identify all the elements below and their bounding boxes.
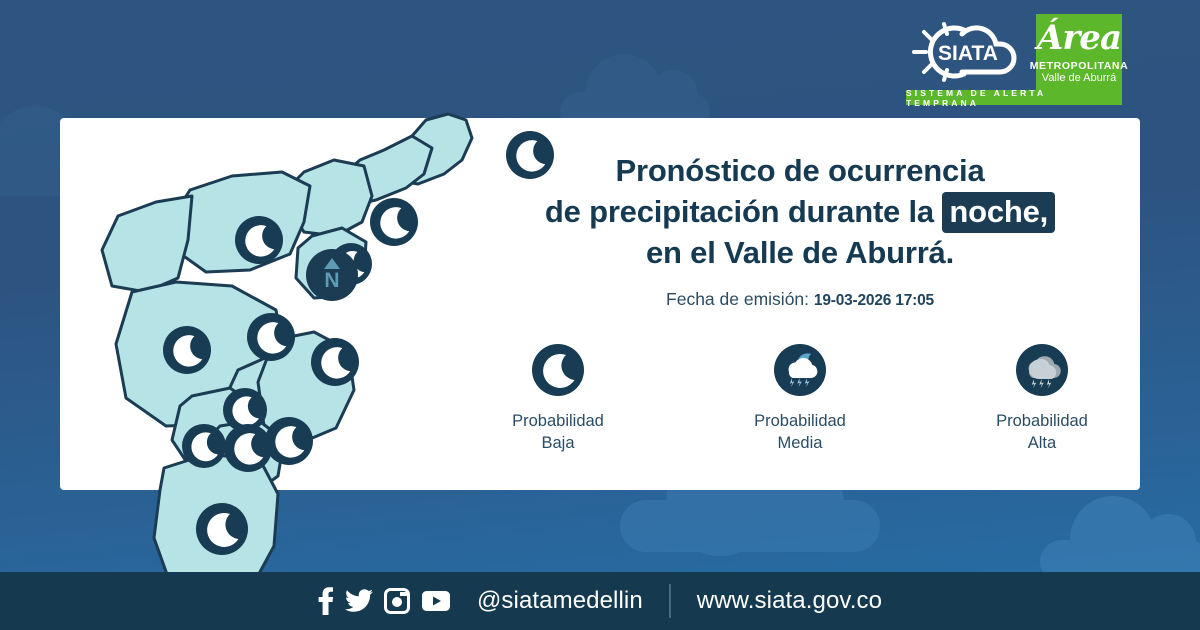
area-metropolitana-logo: Área METROPOLITANA Valle de Aburrá (1036, 14, 1122, 94)
legend-item-baja: Probabilidad Baja (478, 344, 638, 454)
map-marker-girardota (370, 198, 418, 246)
instagram-icon[interactable] (384, 588, 410, 614)
compass-rose: N (306, 249, 358, 301)
map-marker-caldas (196, 503, 248, 555)
forecast-text-block: Pronóstico de ocurrencia de precipitació… (470, 150, 1130, 454)
headline-line-2: de precipitación durante la noche, (470, 191, 1130, 232)
map-marker-san-pedro (235, 216, 283, 264)
social-handle[interactable]: @siatamedellin (477, 587, 643, 615)
facebook-icon[interactable] (318, 587, 334, 615)
valle-de-aburra-map: N (60, 40, 480, 580)
legend-media-line1: Probabilidad (754, 410, 846, 432)
legend-alta-line2: Alta (996, 432, 1088, 454)
legend-baja-line2: Baja (512, 432, 604, 454)
legend-item-alta: Probabilidad Alta (962, 344, 1122, 454)
map-marker-envigado (265, 417, 313, 465)
legend-label-baja: Probabilidad Baja (512, 410, 604, 454)
municipality-bello (172, 172, 310, 272)
probability-legend: Probabilidad Baja Probabilidad (470, 344, 1130, 454)
infographic-canvas: SIATA Área METROPOLITANA Valle de Aburrá… (0, 0, 1200, 630)
legend-media-line2: Media (754, 432, 846, 454)
map-marker-bello (311, 338, 359, 386)
cloud-moon-rain-icon (774, 344, 826, 396)
youtube-icon[interactable] (421, 590, 451, 612)
map-marker-la-estrella (224, 424, 272, 472)
footer-divider (669, 584, 671, 618)
area-line2: Valle de Aburrá (1042, 72, 1116, 85)
legend-label-alta: Probabilidad Alta (996, 410, 1088, 454)
issue-date-value: 19-03-2026 17:05 (814, 292, 934, 309)
headline-line-3: en el Valle de Aburrá. (470, 232, 1130, 273)
moon-icon (532, 344, 584, 396)
brand-logos: SIATA Área METROPOLITANA Valle de Aburrá (906, 14, 1122, 94)
twitter-icon[interactable] (345, 589, 373, 613)
social-links (318, 587, 451, 615)
legend-alta-line1: Probabilidad (996, 410, 1088, 432)
municipality-san-pedro (102, 196, 192, 292)
page-title: Pronóstico de ocurrencia de precipitació… (470, 150, 1130, 273)
area-line1: METROPOLITANA (1030, 60, 1129, 72)
siata-wordmark: SIATA (938, 42, 998, 65)
map-marker-sabaneta (182, 424, 226, 468)
issue-date: Fecha de emisión: 19-03-2026 17:05 (470, 289, 1130, 310)
headline-line-2-text: de precipitación durante la (545, 194, 934, 229)
map-marker-san-jeronimo (163, 326, 211, 374)
map-svg: N (60, 40, 480, 580)
siata-logo-icon: SIATA (906, 14, 1026, 90)
legend-item-media: Probabilidad Media (720, 344, 880, 454)
compass-north-label: N (324, 269, 339, 292)
tagline-bar: SISTEMA DE ALERTA TEMPRANA (906, 90, 1122, 105)
cloud-rain-icon (1016, 344, 1068, 396)
map-marker-medellin (247, 313, 295, 361)
website-url[interactable]: www.siata.gov.co (697, 587, 882, 615)
headline-line-1: Pronóstico de ocurrencia (470, 150, 1130, 191)
issue-date-label: Fecha de emisión: (666, 289, 809, 309)
legend-baja-line1: Probabilidad (512, 410, 604, 432)
area-script-text: Área (1037, 16, 1121, 60)
footer-bar: @siatamedellin www.siata.gov.co (0, 572, 1200, 630)
background-cloud-icon (620, 500, 880, 552)
legend-label-media: Probabilidad Media (754, 410, 846, 454)
period-highlight: noche, (942, 192, 1055, 233)
